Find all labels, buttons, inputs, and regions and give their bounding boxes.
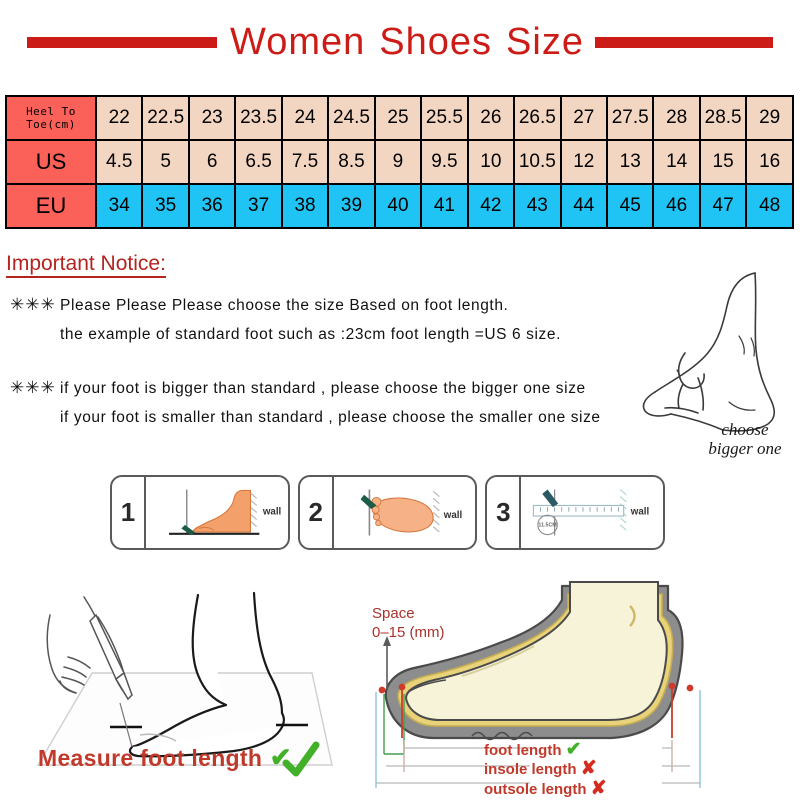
step-3-ruler-value: 11.5CM	[539, 523, 558, 529]
green-check-icon: ✔	[262, 742, 292, 772]
title-word-2: Shoes	[379, 21, 492, 63]
cell-eu-9: 43	[514, 184, 560, 228]
step-number-3: 3	[487, 477, 521, 548]
cell-eu-0: 34	[96, 184, 142, 228]
cell-eu-5: 39	[328, 184, 374, 228]
cell-eu-2: 36	[189, 184, 235, 228]
foot-art-caption: choose bigger one	[690, 420, 800, 458]
legend-insole-length-label: insole length	[484, 761, 577, 778]
cell-us-8: 10	[468, 140, 514, 184]
cell-us-5: 8.5	[328, 140, 374, 184]
notice-line-1-text: Please Please Please choose the size Bas…	[60, 297, 508, 314]
legend-foot-length-label: foot length	[484, 742, 561, 759]
measuring-steps-strip: 1 wall 2	[110, 475, 665, 550]
check-icon: ✔	[566, 739, 582, 760]
cell-cm-0: 22	[96, 96, 142, 140]
foot-sole-wall-icon: wall	[334, 477, 476, 548]
cell-cm-1: 22.5	[142, 96, 188, 140]
step-1-illustration: wall	[146, 477, 288, 548]
cell-us-6: 9	[375, 140, 421, 184]
cell-us-14: 16	[746, 140, 793, 184]
title-word-1: Women	[230, 21, 365, 63]
notice-line-4: if your foot is smaller than standard , …	[60, 409, 601, 427]
step-number-2: 2	[300, 477, 334, 548]
ruler-measure-icon: 11.5CM wall	[521, 477, 663, 548]
step-2-illustration: wall	[334, 477, 476, 548]
notice-line-4-text: if your foot is smaller than standard , …	[60, 409, 601, 426]
notice-line-2: the example of standard foot such as :23…	[60, 326, 561, 344]
cell-cm-2: 23	[189, 96, 235, 140]
cell-eu-14: 48	[746, 184, 793, 228]
cell-us-2: 6	[189, 140, 235, 184]
page-title: WomenShoesSize	[223, 21, 591, 64]
size-conversion-table: Heel To Toe(cm) 22 22.5 23 23.5 24 24.5 …	[5, 95, 794, 229]
cell-eu-11: 45	[607, 184, 653, 228]
cell-cm-4: 24	[282, 96, 328, 140]
row-header-heel-to-toe: Heel To Toe(cm)	[6, 96, 96, 140]
cell-eu-7: 41	[421, 184, 467, 228]
notice-line-1: ✳✳✳ Please Please Please choose the size…	[10, 295, 508, 315]
cell-cm-7: 25.5	[421, 96, 467, 140]
cell-eu-13: 47	[700, 184, 746, 228]
step-2-wall-label: wall	[442, 510, 462, 521]
cell-us-12: 14	[653, 140, 699, 184]
cell-us-9: 10.5	[514, 140, 560, 184]
asterisk-marker-1: ✳✳✳	[10, 295, 56, 314]
cell-us-3: 6.5	[235, 140, 281, 184]
table-row-eu: EU 34 35 36 37 38 39 40 41 42 43 44 45 4…	[6, 184, 793, 228]
cell-us-10: 12	[561, 140, 607, 184]
cell-cm-13: 28.5	[700, 96, 746, 140]
foot-caption-line-2: bigger one	[690, 439, 800, 458]
cross-icon-insole: ✘	[581, 758, 597, 779]
foot-caption-line-1: choose	[690, 420, 800, 439]
notice-line-3-text: if your foot is bigger than standard , p…	[60, 380, 586, 397]
cell-us-1: 5	[142, 140, 188, 184]
cell-cm-12: 28	[653, 96, 699, 140]
table-row-us: US 4.5 5 6 6.5 7.5 8.5 9 9.5 10 10.5 12 …	[6, 140, 793, 184]
step-panel-3: 3 11.5CM	[485, 475, 665, 550]
space-gap-label: Space 0–15 (mm)	[372, 605, 445, 643]
title-word-3: Size	[506, 21, 584, 63]
important-notice-heading: Important Notice:	[6, 252, 166, 278]
foot-side-wall-icon: wall	[146, 477, 288, 548]
cell-cm-11: 27.5	[607, 96, 653, 140]
row-header-us: US	[6, 140, 96, 184]
asterisk-marker-2: ✳✳✳	[10, 378, 56, 397]
step-3-illustration: 11.5CM wall	[521, 477, 663, 548]
cell-us-7: 9.5	[421, 140, 467, 184]
title-rule-left	[27, 37, 217, 48]
cell-eu-6: 40	[375, 184, 421, 228]
cell-us-4: 7.5	[282, 140, 328, 184]
cell-eu-4: 38	[282, 184, 328, 228]
cell-eu-3: 37	[235, 184, 281, 228]
legend-outsole-length: outsole length ✘	[484, 779, 607, 798]
legend-foot-length: foot length ✔	[484, 740, 607, 759]
cell-us-11: 13	[607, 140, 653, 184]
legend-outsole-length-label: outsole length	[484, 781, 587, 798]
cell-cm-14: 29	[746, 96, 793, 140]
space-label-line-2: 0–15 (mm)	[372, 624, 445, 643]
cell-us-0: 4.5	[96, 140, 142, 184]
step-panel-1: 1 wall	[110, 475, 290, 550]
step-number-1: 1	[112, 477, 146, 548]
notice-line-2-text: the example of standard foot such as :23…	[60, 326, 561, 343]
cell-us-13: 15	[700, 140, 746, 184]
notice-line-3: ✳✳✳ if your foot is bigger than standard…	[10, 378, 586, 398]
table-row-heel-to-toe: Heel To Toe(cm) 22 22.5 23 23.5 24 24.5 …	[6, 96, 793, 140]
cell-cm-5: 24.5	[328, 96, 374, 140]
step-1-wall-label: wall	[262, 506, 282, 517]
row-header-eu: EU	[6, 184, 96, 228]
cell-cm-3: 23.5	[235, 96, 281, 140]
cell-eu-10: 44	[561, 184, 607, 228]
step-panel-2: 2 wall	[298, 475, 478, 550]
cell-cm-8: 26	[468, 96, 514, 140]
cell-cm-10: 27	[561, 96, 607, 140]
cell-cm-6: 25	[375, 96, 421, 140]
space-label-line-1: Space	[372, 605, 445, 624]
cell-eu-1: 35	[142, 184, 188, 228]
shoe-measurement-legend: foot length ✔ insole length ✘ outsole le…	[484, 740, 607, 798]
cell-cm-9: 26.5	[514, 96, 560, 140]
legend-insole-length: insole length ✘	[484, 759, 607, 778]
cross-icon-outsole: ✘	[591, 778, 607, 799]
step-3-wall-label: wall	[630, 506, 650, 517]
cell-eu-12: 46	[653, 184, 699, 228]
page-title-bar: WomenShoesSize	[0, 16, 800, 68]
measure-foot-caption: Measure foot length ✔	[38, 742, 292, 773]
title-rule-right	[595, 37, 773, 48]
cell-eu-8: 42	[468, 184, 514, 228]
